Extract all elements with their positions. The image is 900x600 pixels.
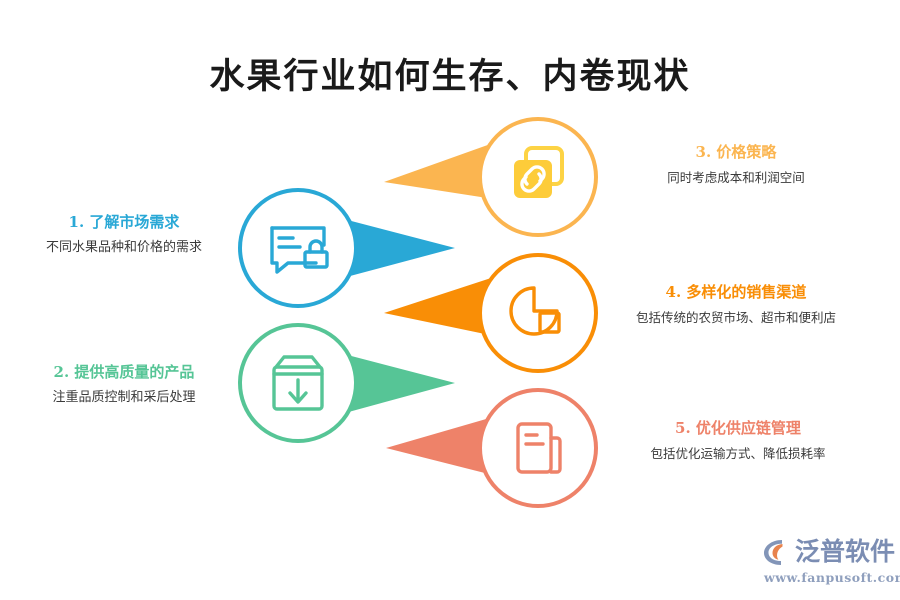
step-description-4: 包括传统的农贸市场、超市和便利店: [620, 308, 852, 327]
step-description-5: 包括优化运输方式、降低损耗率: [622, 444, 854, 463]
step-text-1: 1. 了解市场需求 不同水果品种和价格的需求: [8, 212, 240, 257]
step-heading-4: 4. 多样化的销售渠道: [620, 282, 852, 302]
step-heading-1: 1. 了解市场需求: [8, 212, 240, 232]
step-circle-4[interactable]: [480, 255, 596, 371]
fanpu-logo-icon: [762, 537, 792, 567]
brand-logo: 泛普软件 www.fanpusoft.com: [762, 535, 892, 587]
infographic-canvas: 水果行业如何生存、内卷现状: [0, 0, 900, 600]
step-text-4: 4. 多样化的销售渠道 包括传统的农贸市场、超市和便利店: [620, 282, 852, 327]
step-description-3: 同时考虑成本和利润空间: [620, 168, 852, 187]
step-text-2: 2. 提供高质量的产品 注重品质控制和采后处理: [8, 362, 240, 407]
step-text-5: 5. 优化供应链管理 包括优化运输方式、降低损耗率: [622, 418, 854, 463]
step-text-3: 3. 价格策略 同时考虑成本和利润空间: [620, 142, 852, 187]
step-heading-3: 3. 价格策略: [620, 142, 852, 162]
step-description-1: 不同水果品种和价格的需求: [8, 238, 240, 257]
step-description-2: 注重品质控制和采后处理: [8, 388, 240, 407]
logo-wordmark: 泛普软件: [795, 537, 895, 567]
step-heading-2: 2. 提供高质量的产品: [8, 362, 240, 382]
step-heading-5: 5. 优化供应链管理: [622, 418, 854, 438]
logo-url: www.fanpusoft.com: [764, 570, 892, 585]
step-circle-5[interactable]: [480, 390, 596, 506]
